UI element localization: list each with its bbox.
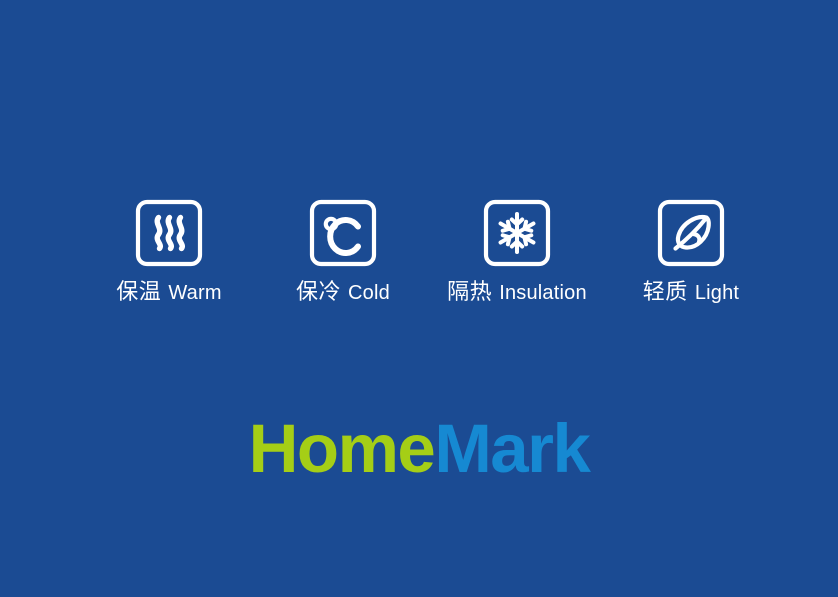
feature-label-en: Insulation: [499, 282, 587, 304]
feature-label-en: Cold: [348, 282, 390, 304]
feature-label-light: 轻质Light: [604, 281, 778, 303]
brand-logo: HomeMark: [0, 414, 838, 483]
feature-item-insulation: 隔热Insulation: [430, 196, 604, 326]
feature-label-cn: 轻质: [643, 279, 688, 304]
heat-waves-icon: [133, 196, 205, 268]
feature-item-cold: 保冷Cold: [256, 196, 430, 326]
brand-logo-mark: Mark: [434, 410, 589, 487]
promo-banner: 保温Warm 保冷Cold: [0, 0, 838, 597]
feature-label-en: Warm: [168, 282, 221, 304]
feature-icon-row: 保温Warm 保冷Cold: [0, 196, 838, 326]
feature-label-en: Light: [695, 282, 739, 304]
feature-label-insulation: 隔热Insulation: [430, 281, 604, 303]
feature-label-cn: 隔热: [447, 279, 492, 304]
feature-label-cold: 保冷Cold: [256, 281, 430, 303]
feature-label-cn: 保温: [116, 279, 161, 304]
feature-item-light: 轻质Light: [604, 196, 778, 326]
brand-logo-home: Home: [249, 410, 435, 487]
snowflake-icon: [481, 196, 553, 268]
feature-item-warm: 保温Warm: [82, 196, 256, 326]
feature-label-cn: 保冷: [296, 279, 341, 304]
feather-icon: [655, 196, 727, 268]
feature-label-warm: 保温Warm: [82, 281, 256, 303]
degrees-celsius-icon: [307, 196, 379, 268]
